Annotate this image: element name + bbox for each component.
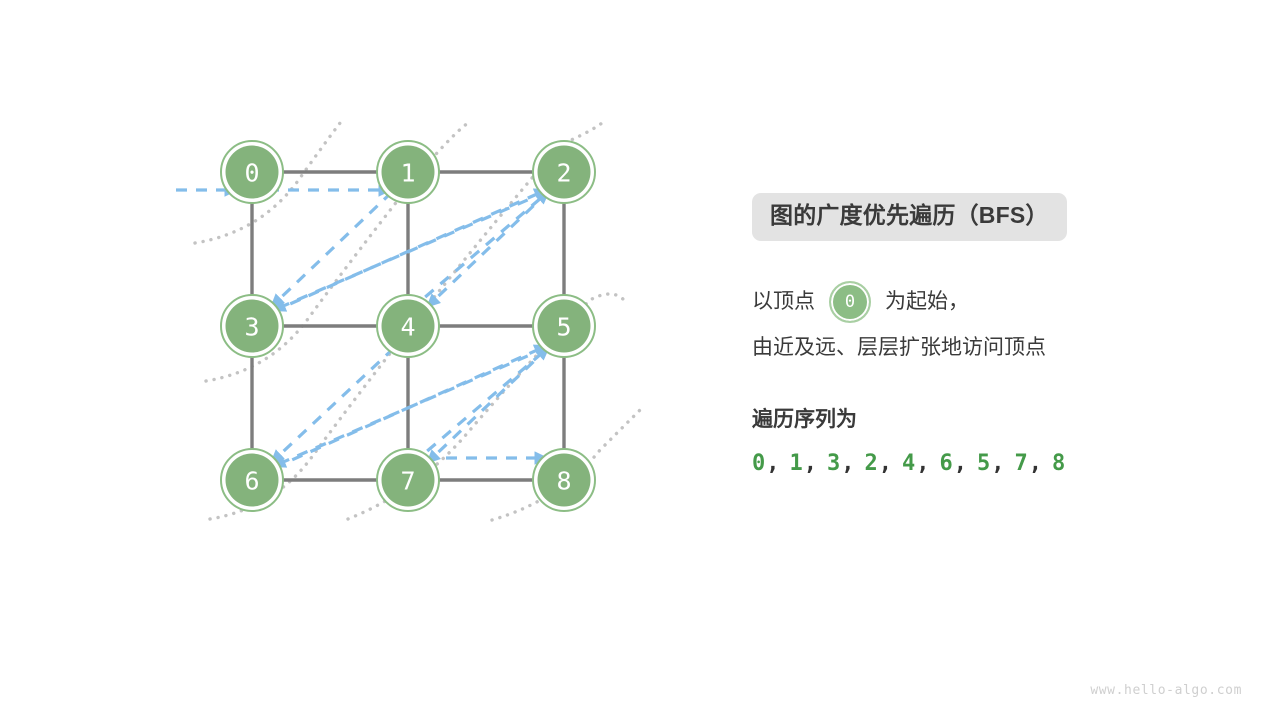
description-block: 以顶点 0 为起始， 由近及远、层层扩张地访问顶点 bbox=[752, 279, 1222, 371]
watermark: www.hello-algo.com bbox=[1090, 683, 1242, 698]
vertex-label: 6 bbox=[244, 467, 259, 496]
sequence-separator: , bbox=[916, 451, 939, 476]
sequence-item: 3 bbox=[827, 451, 841, 476]
vertex-label: 3 bbox=[244, 313, 259, 342]
vertex-8[interactable]: 8 bbox=[533, 449, 595, 511]
sequence-item: 4 bbox=[902, 451, 916, 476]
vertex-label: 5 bbox=[556, 313, 571, 342]
traversal-arrow-2-to-4 bbox=[428, 192, 548, 306]
vertex-label: 0 bbox=[244, 159, 259, 188]
start-vertex-badge: 0 bbox=[829, 281, 871, 323]
vertex-1[interactable]: 1 bbox=[377, 141, 439, 203]
vertex-label: 7 bbox=[400, 467, 415, 496]
sequence-item: 8 bbox=[1052, 451, 1066, 476]
sequence-item: 5 bbox=[977, 451, 991, 476]
sequence-item: 0 bbox=[752, 451, 766, 476]
sequence-separator: , bbox=[841, 451, 864, 476]
sequence-separator: , bbox=[804, 451, 827, 476]
vertex-label: 4 bbox=[400, 313, 415, 342]
vertex-label: 1 bbox=[400, 159, 415, 188]
traversal-arrow-4-to-6 bbox=[272, 348, 394, 462]
sequence-item: 2 bbox=[865, 451, 879, 476]
sequence-separator: , bbox=[954, 451, 977, 476]
vertex-3[interactable]: 3 bbox=[221, 295, 283, 357]
vertex-label: 2 bbox=[556, 159, 571, 188]
info-panel: 图的广度优先遍历（BFS） 以顶点 0 为起始， 由近及远、层层扩张地访问顶点 … bbox=[752, 193, 1222, 476]
vertex-label: 8 bbox=[556, 467, 571, 496]
vertex-2[interactable]: 2 bbox=[533, 141, 595, 203]
sequence-separator: , bbox=[1029, 451, 1052, 476]
vertex-0[interactable]: 0 bbox=[221, 141, 283, 203]
sequence-separator: , bbox=[766, 451, 789, 476]
sequence-item: 1 bbox=[790, 451, 804, 476]
vertex-6[interactable]: 6 bbox=[221, 449, 283, 511]
traversal-arrow-5-to-7 bbox=[428, 348, 548, 462]
vertex-4[interactable]: 4 bbox=[377, 295, 439, 357]
sequence-separator: , bbox=[879, 451, 902, 476]
sequence-item: 6 bbox=[940, 451, 954, 476]
diagram-canvas: 012345678 图的广度优先遍历（BFS） 以顶点 0 为起始， 由近及远、… bbox=[0, 0, 1280, 720]
sequence-title: 遍历序列为 bbox=[752, 403, 1222, 433]
traversal-sequence: 0,1,3,2,4,6,5,7,8 bbox=[752, 451, 1222, 476]
description-prefix: 以顶点 bbox=[752, 279, 815, 325]
description-suffix: 为起始， bbox=[885, 279, 969, 325]
traversal-arrow-1-to-3 bbox=[272, 192, 392, 306]
description-line-1: 以顶点 0 为起始， bbox=[752, 279, 1222, 325]
page-title: 图的广度优先遍历（BFS） bbox=[752, 193, 1067, 241]
vertex-5[interactable]: 5 bbox=[533, 295, 595, 357]
vertex-7[interactable]: 7 bbox=[377, 449, 439, 511]
sequence-item: 7 bbox=[1015, 451, 1029, 476]
description-line-2: 由近及远、层层扩张地访问顶点 bbox=[752, 325, 1222, 371]
sequence-separator: , bbox=[991, 451, 1014, 476]
